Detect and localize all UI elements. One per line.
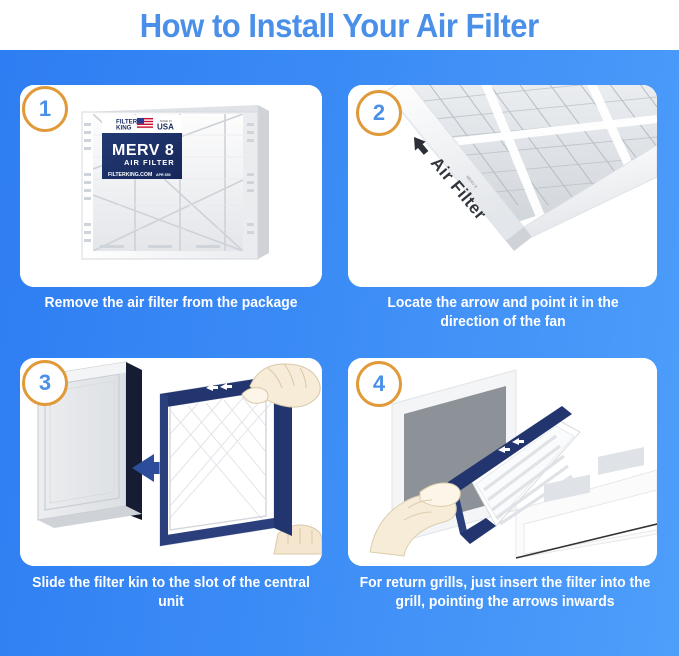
step-4-caption: For return grills, just insert the filte… xyxy=(358,574,652,612)
step-1-number-badge: 1 xyxy=(22,86,68,132)
step-1-caption: Remove the air filter from the package xyxy=(26,294,316,313)
step-2-number-badge: 2 xyxy=(356,90,402,136)
step-3-caption: Slide the filter kin to the slot of the … xyxy=(26,574,316,612)
brand-line2: KING xyxy=(116,125,132,132)
usa-text: USA xyxy=(157,123,174,132)
merv-text: MERV 8 xyxy=(112,142,174,159)
air-filter-text: AIR FILTER xyxy=(124,158,175,167)
usa-flag-icon xyxy=(137,118,153,128)
step-4-number-badge: 4 xyxy=(356,361,402,407)
step-3-number-badge: 3 xyxy=(22,360,68,406)
website-text: FILTERKING.COM xyxy=(108,172,152,178)
steps-container: FILTER KING MADE IN USA MERV 8 AIR FILTE… xyxy=(0,50,679,656)
header-bar: How to Install Your Air Filter xyxy=(0,0,679,50)
step-2-caption: Locate the arrow and point it in the dir… xyxy=(358,294,648,332)
page-title: How to Install Your Air Filter xyxy=(140,9,539,42)
apr-text: APR 650 xyxy=(156,173,171,177)
